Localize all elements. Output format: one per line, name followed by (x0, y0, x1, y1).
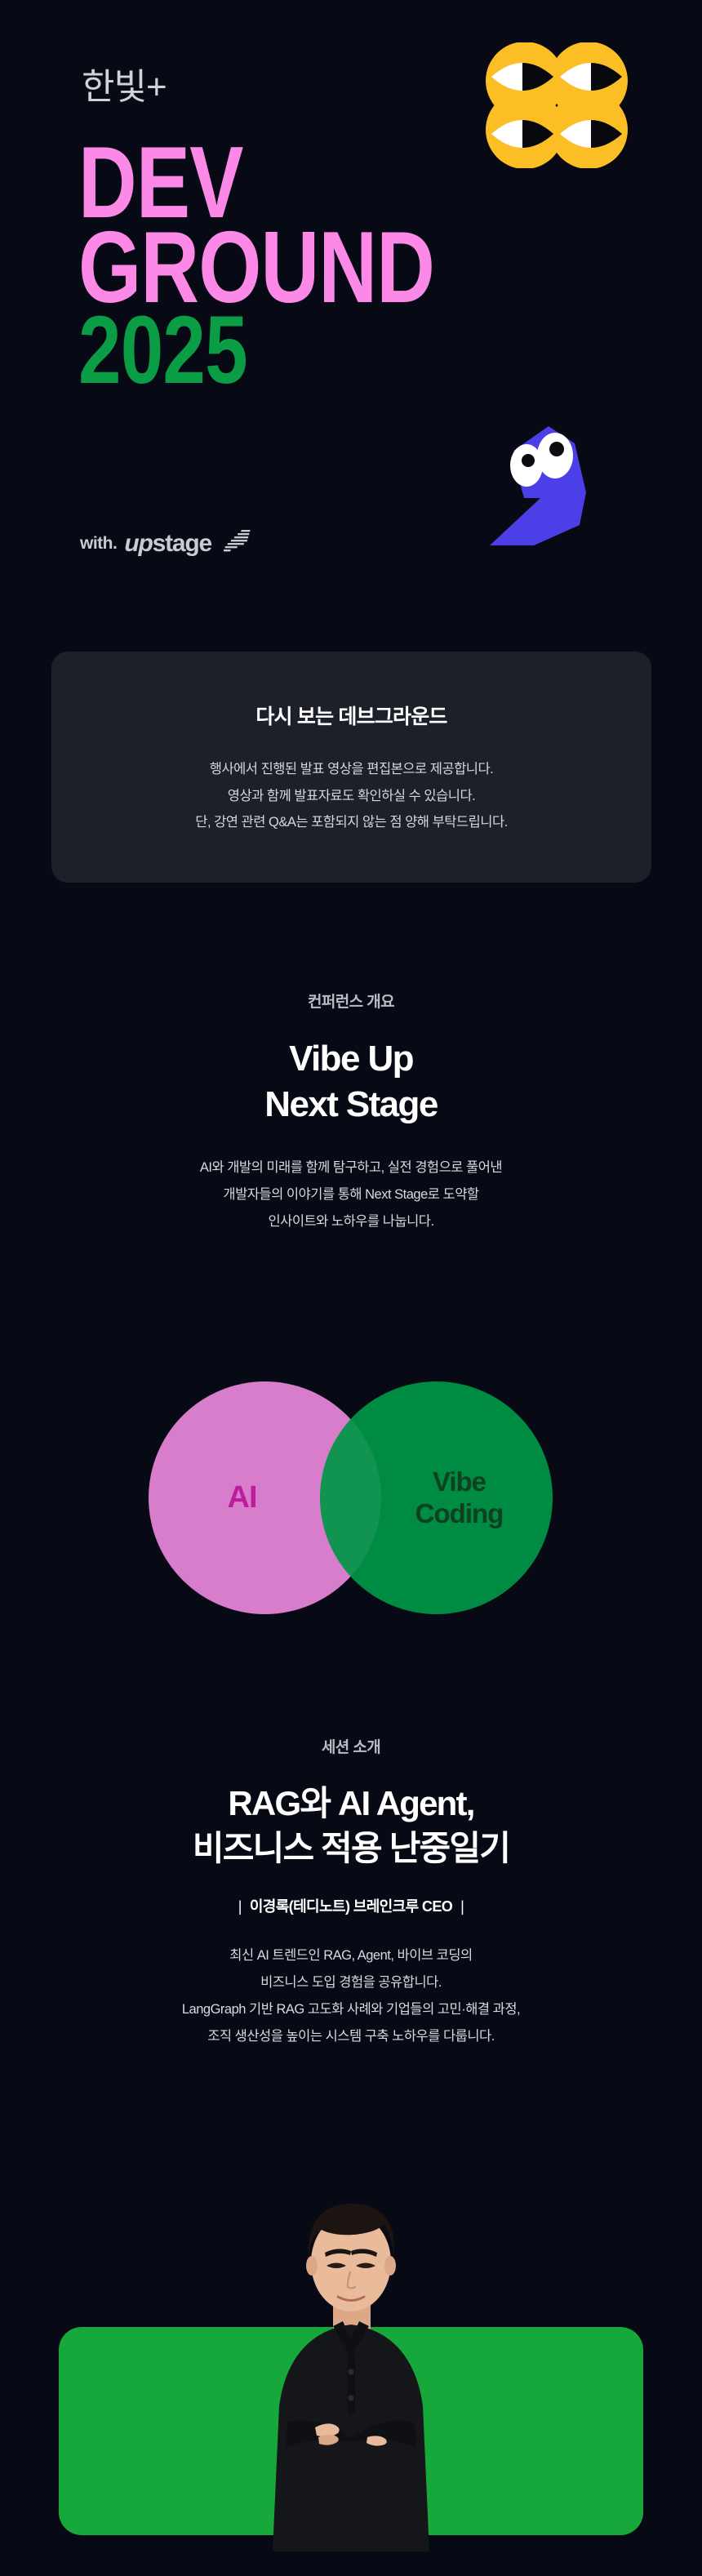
venn-label-ai: AI (228, 1480, 257, 1515)
speaker-bar-right: | (452, 1898, 472, 1915)
session-description-line: 최신 AI 트렌드인 RAG, Agent, 바이브 코딩의 (0, 1942, 702, 1969)
speaker-credit: |이경록(테디노트) 브레인크루 CEO| (0, 1895, 702, 1916)
with-label: with. (80, 534, 117, 554)
hero-section: 한빛+ DEV GROUND 2025 with. upstage (0, 0, 702, 621)
notice-line: 영상과 함께 발표자료도 확인하실 수 있습니다. (195, 783, 507, 810)
clover-four-circles-icon (485, 42, 629, 172)
speaker-portrait (237, 2168, 465, 2552)
notice-line: 행사에서 진행된 발표 영상을 편집본으로 제공합니다. (195, 756, 507, 783)
upstage-swoosh-icon (224, 529, 251, 558)
overview-title-line-1: Vibe Up (0, 1036, 702, 1082)
partner-credit: with. upstage (80, 529, 251, 558)
speaker-photo-block (0, 2135, 702, 2576)
venn-diagram: AI Vibe Coding (0, 1381, 702, 1620)
upstage-wordmark-italic: up (124, 532, 152, 556)
speaker-name: 이경록(테디노트) 브레인크루 CEO (250, 1898, 452, 1915)
session-description-line: 비즈니스 도입 경험을 공유합니다. (0, 1969, 702, 1996)
hero-title-line-3: 2025 (78, 310, 434, 391)
session-description: 최신 AI 트렌드인 RAG, Agent, 바이브 코딩의 비즈니스 도입 경… (0, 1942, 702, 2050)
session-title-line-1: RAG와 AI Agent, (0, 1782, 702, 1826)
session-eyebrow: 세션 소개 (0, 1735, 702, 1757)
speaker-bar-left: | (230, 1898, 250, 1915)
conference-overview-section: 컨퍼런스 개요 Vibe Up Next Stage AI와 개발의 미래를 함… (0, 990, 702, 1235)
overview-eyebrow: 컨퍼런스 개요 (0, 990, 702, 1012)
session-intro-section: 세션 소개 RAG와 AI Agent, 비즈니스 적용 난중일기 |이경록(테… (0, 1735, 702, 2050)
session-title: RAG와 AI Agent, 비즈니스 적용 난중일기 (0, 1782, 702, 1871)
notice-card: 다시 보는 데브그라운드 행사에서 진행된 발표 영상을 편집본으로 제공합니다… (51, 652, 651, 883)
session-description-line: 조직 생산성을 높이는 시스템 구축 노하우를 다룹니다. (0, 2023, 702, 2050)
overview-description-line: AI와 개발의 미래를 함께 탐구하고, 실전 경험으로 풀어낸 (0, 1155, 702, 1181)
page-title: DEV GROUND 2025 (78, 140, 523, 391)
notice-line: 단, 강연 관련 Q&A는 포함되지 않는 점 양해 부탁드립니다. (195, 809, 507, 836)
upstage-wordmark: upstage (124, 532, 211, 556)
overview-title: Vibe Up Next Stage (0, 1036, 702, 1128)
upstage-wordmark-rest: stage (153, 532, 211, 556)
venn-label-vibe-line-2: Coding (415, 1498, 504, 1528)
landing-page: 한빛+ DEV GROUND 2025 with. upstage (0, 0, 702, 2576)
overview-description-line: 인사이트와 노하우를 나눕니다. (0, 1208, 702, 1235)
overview-description-line: 개발자들의 이야기를 통해 Next Stage로 도약할 (0, 1181, 702, 1208)
notice-body: 행사에서 진행된 발표 영상을 편집본으로 제공합니다. 영상과 함께 발표자료… (195, 756, 507, 836)
venn-circle-vibe-coding: Vibe Coding (320, 1381, 553, 1614)
session-description-line: LangGraph 기반 RAG 고도화 사례와 기업들의 고민·해결 과정, (0, 1996, 702, 2023)
brand-logo-hanbit: 한빛+ (82, 69, 167, 105)
overview-title-line-2: Next Stage (0, 1082, 702, 1128)
blue-blob-character-icon (483, 398, 622, 549)
session-title-line-2: 비즈니스 적용 난중일기 (0, 1826, 702, 1871)
venn-label-vibe-line-1: Vibe (433, 1466, 486, 1497)
overview-description: AI와 개발의 미래를 함께 탐구하고, 실전 경험으로 풀어낸 개발자들의 이… (0, 1155, 702, 1235)
notice-title: 다시 보는 데브그라운드 (255, 701, 447, 730)
venn-label-vibe-coding: Vibe Coding (415, 1466, 504, 1529)
